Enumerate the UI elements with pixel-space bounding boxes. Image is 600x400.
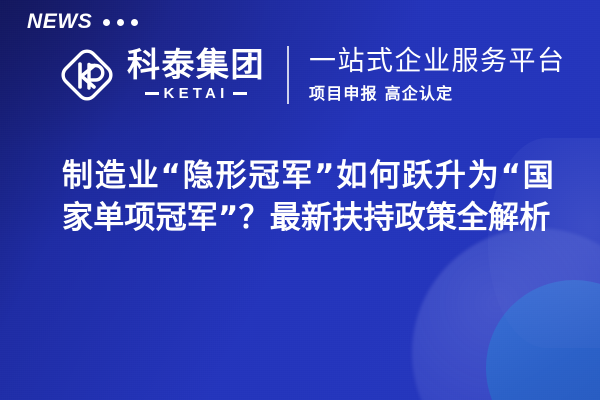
headline: 制造业“隐形冠军”如何跃升为“国家单项冠军”？最新扶持政策全解析 — [62, 155, 554, 239]
news-kicker-label: NEWS — [27, 11, 92, 32]
tagline-block: 一站式企业服务平台 项目申报 高企认定 — [309, 46, 566, 103]
three-dots-icon — [103, 18, 138, 26]
brand-name-en-row: KETAI — [127, 85, 265, 103]
brand-rule-right-icon — [233, 92, 247, 95]
brand-name-cn: 科泰集团 — [127, 47, 265, 83]
tagline-sub: 项目申报 高企认定 — [309, 84, 566, 103]
brand-rule-left-icon — [145, 92, 159, 95]
ketai-diamond-kp-monogram-icon — [56, 44, 118, 106]
news-kicker: NEWS — [27, 11, 138, 32]
news-banner: NEWS 科泰集团 KETAI — [0, 0, 600, 400]
brand-row: 科泰集团 KETAI 一站式企业服务平台 项目申报 高企认定 — [56, 44, 566, 106]
vertical-divider-icon — [287, 46, 289, 104]
tagline-main: 一站式企业服务平台 — [309, 46, 566, 78]
brand-names: 科泰集团 KETAI — [127, 47, 265, 103]
brand-name-en: KETAI — [164, 85, 229, 103]
